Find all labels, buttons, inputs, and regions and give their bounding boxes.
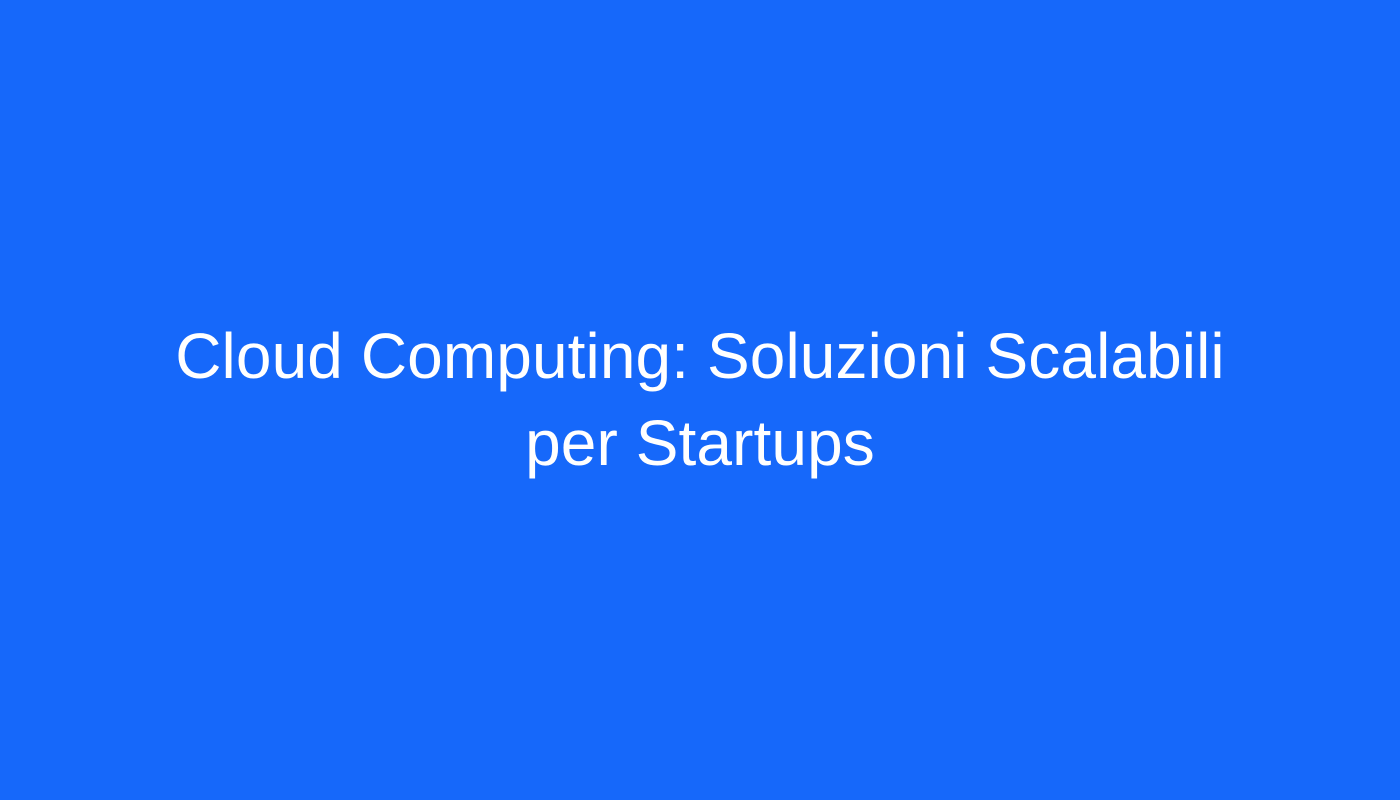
page-title: Cloud Computing: Soluzioni Scalabili per… [160,313,1240,487]
hero-content-container: Cloud Computing: Soluzioni Scalabili per… [160,313,1240,487]
hero-banner: Cloud Computing: Soluzioni Scalabili per… [0,0,1400,800]
